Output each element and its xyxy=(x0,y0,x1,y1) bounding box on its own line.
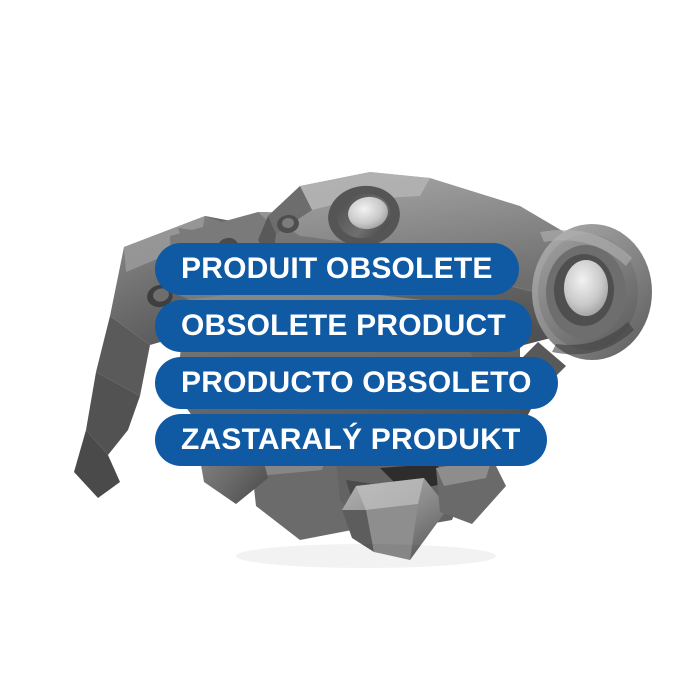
obsolete-badge-stack: PRODUIT OBSOLETE OBSOLETE PRODUCT PRODUC… xyxy=(155,243,558,466)
obsolete-badge-label-fr: PRODUIT OBSOLETE xyxy=(181,254,493,284)
obsolete-badge-en: OBSOLETE PRODUCT xyxy=(155,300,532,352)
obsolete-badge-label-cs: ZASTARALÝ PRODUKT xyxy=(181,425,521,455)
obsolete-badge-label-en: OBSOLETE PRODUCT xyxy=(181,311,506,341)
obsolete-badge-cs: ZASTARALÝ PRODUKT xyxy=(155,414,547,466)
obsolete-badge-es: PRODUCTO OBSOLETO xyxy=(155,357,558,409)
obsolete-badge-label-es: PRODUCTO OBSOLETO xyxy=(181,368,532,398)
obsolete-badge-fr: PRODUIT OBSOLETE xyxy=(155,243,519,295)
product-image-canvas: PRODUIT OBSOLETE OBSOLETE PRODUCT PRODUC… xyxy=(0,0,700,700)
